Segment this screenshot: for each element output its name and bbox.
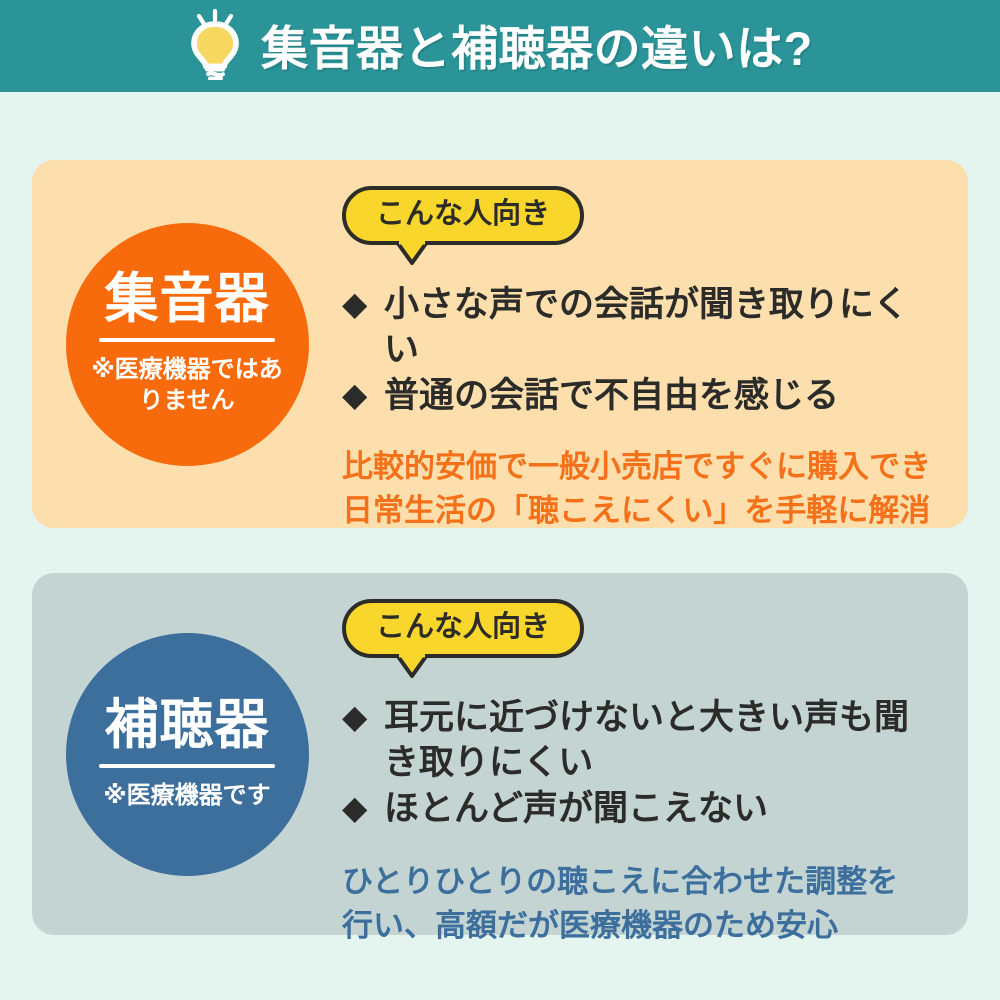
summary-amplifier: 比較的安価で一般小売店ですぐに購入でき 日常生活の「聴こえにくい」を手軽に解消 (342, 445, 942, 533)
badge-column-hearingaid: 補聴器 ※医療機器です (32, 573, 342, 935)
summary-line: ひとりひとりの聴こえに合わせた調整を (342, 860, 942, 904)
badge-title: 補聴器 (105, 697, 270, 754)
target-audience-bubble-amplifier: こんな人向き (342, 186, 584, 245)
summary-hearingaid: ひとりひとりの聴こえに合わせた調整を 行い、高額だが医療機器のため安心 (342, 860, 942, 948)
badge-title: 集音器 (105, 271, 270, 328)
list-item: ほとんど声が聞こえない (342, 787, 942, 832)
summary-line: 日常生活の「聴こえにくい」を手軽に解消 (342, 489, 942, 533)
page-header: 集音器と補聴器の違いは? (0, 0, 1000, 92)
list-item: 小さな声での会話が聞き取りにくい (342, 283, 942, 373)
list-item: 耳元に近づけないと大きい声も聞き取りにくい (342, 696, 942, 786)
content-column-amplifier: こんな人向き 小さな声での会話が聞き取りにくい 普通の会話で不自由を感じる 比較… (342, 160, 968, 533)
comparison-card-hearingaid: 補聴器 ※医療機器です こんな人向き 耳元に近づけないと大きい声も聞き取りにくい… (32, 573, 968, 935)
summary-line: 行い、高額だが医療機器のため安心 (342, 904, 942, 948)
bubble-tail-icon (395, 241, 429, 265)
badge-amplifier: 集音器 ※医療機器ではありません (66, 223, 309, 466)
badge-note: ※医療機器ではありません (87, 354, 287, 417)
badge-divider (99, 764, 275, 768)
badge-note: ※医療機器です (103, 780, 270, 812)
badge-hearingaid: 補聴器 ※医療機器です (66, 633, 309, 876)
bubble-label: こんな人向き (342, 186, 584, 245)
content-column-hearingaid: こんな人向き 耳元に近づけないと大きい声も聞き取りにくい ほとんど声が聞こえない… (342, 573, 968, 948)
target-audience-bubble-hearingaid: こんな人向き (342, 599, 584, 658)
comparison-card-amplifier: 集音器 ※医療機器ではありません こんな人向き 小さな声での会話が聞き取りにくい… (32, 160, 968, 528)
bullet-list-amplifier: 小さな声での会話が聞き取りにくい 普通の会話で不自由を感じる (342, 283, 942, 419)
list-item: 普通の会話で不自由を感じる (342, 374, 942, 419)
badge-divider (99, 338, 275, 342)
badge-column-amplifier: 集音器 ※医療機器ではありません (32, 160, 342, 528)
summary-line: 比較的安価で一般小売店ですぐに購入でき (342, 445, 942, 489)
page-title: 集音器と補聴器の違いは? (261, 10, 813, 79)
lightbulb-icon (187, 8, 243, 80)
bullet-list-hearingaid: 耳元に近づけないと大きい声も聞き取りにくい ほとんど声が聞こえない (342, 696, 942, 832)
bubble-label: こんな人向き (342, 599, 584, 658)
bubble-tail-icon (395, 654, 429, 678)
